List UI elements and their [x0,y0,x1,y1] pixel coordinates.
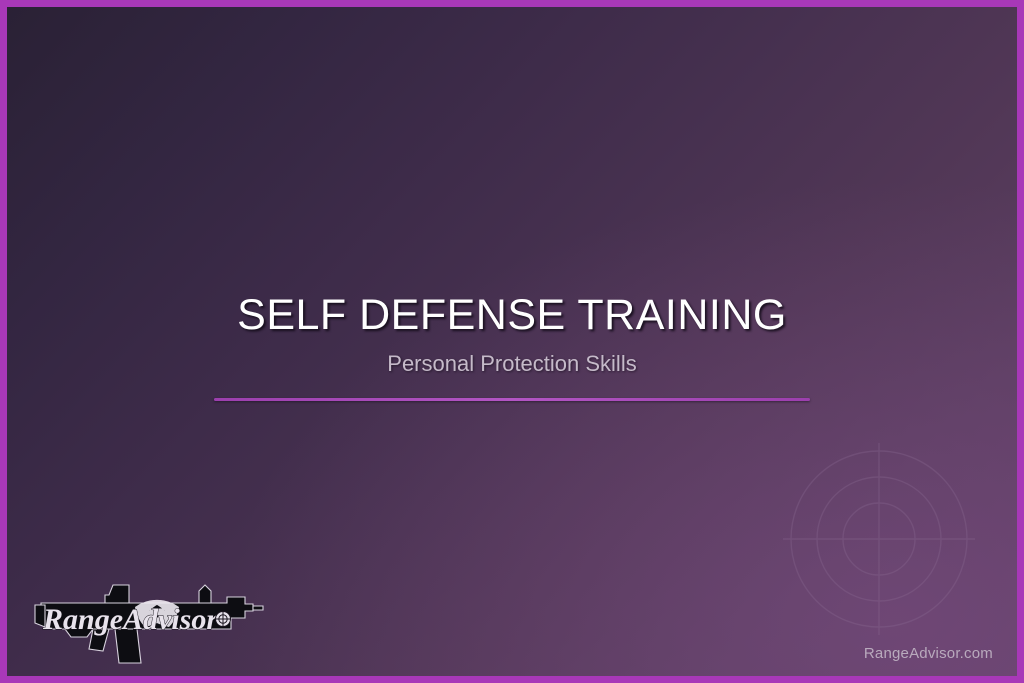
brand-logo: RangeAdvisor [31,571,267,667]
brand-wordmark: RangeAdvisor [42,603,218,636]
title-divider [214,398,810,401]
title-block: SELF DEFENSE TRAINING Personal Protectio… [7,293,1017,401]
scope-reticle-icon [215,611,231,627]
slide-subtitle: Personal Protection Skills [7,352,1017,376]
footer-url: RangeAdvisor.com [864,645,993,662]
presentation-slide: SELF DEFENSE TRAINING Personal Protectio… [0,0,1024,683]
slide-title: SELF DEFENSE TRAINING [7,293,1017,338]
rifle-silhouette: RangeAdvisor [35,585,263,663]
